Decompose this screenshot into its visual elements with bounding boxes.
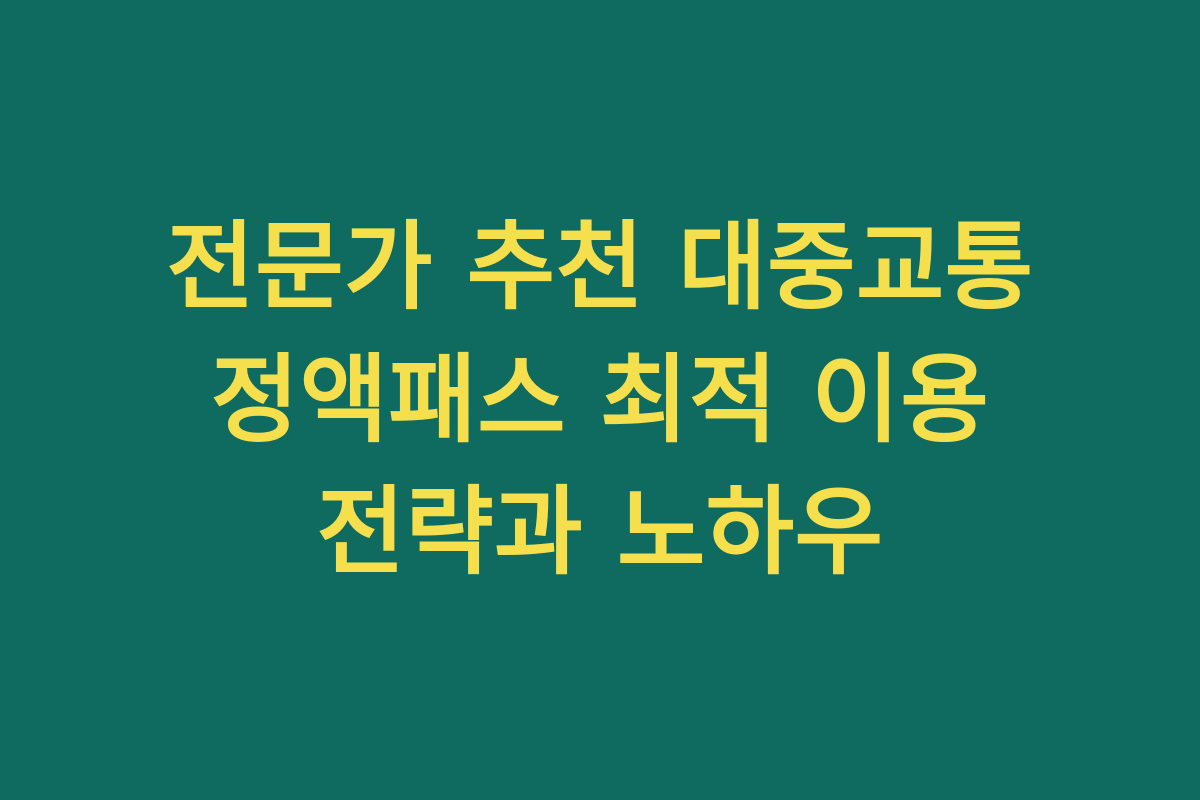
title-block: 전문가 추천 대중교통 정액패스 최적 이용 전략과 노하우 [70, 201, 1130, 598]
banner-canvas: 전문가 추천 대중교통 정액패스 최적 이용 전략과 노하우 [0, 0, 1200, 800]
banner-title: 전문가 추천 대중교통 정액패스 최적 이용 전략과 노하우 [80, 201, 1120, 598]
